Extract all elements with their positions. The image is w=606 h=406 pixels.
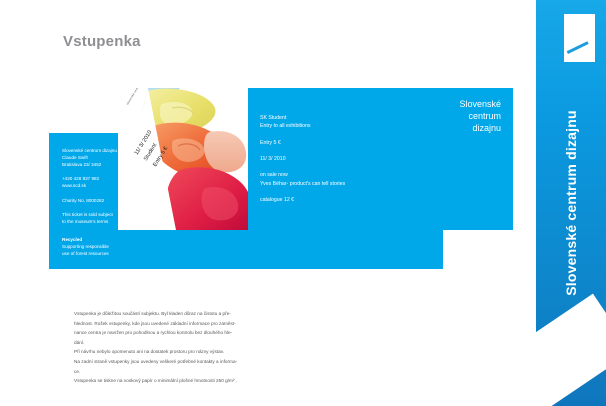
brand-sidebar-label: Slovenské centrum dizajnu — [563, 110, 579, 296]
ticket-front-info-area: Slovenské centrum dizajnu SK Student Ent… — [248, 88, 513, 230]
detail-ticket-type: SK Student Entry to all exhibitions — [260, 114, 410, 131]
recycled-heading: Recycled — [62, 236, 202, 243]
detail-exhibition: on sale now Yves Béhar- product's can te… — [260, 171, 410, 188]
on-sale-label: on sale now — [260, 171, 410, 179]
catalogue-price: catalogue 12 € — [260, 196, 410, 204]
body-line-8: Vstupenka se tiskne na voskový papír o m… — [74, 377, 304, 385]
ticket-front-panel: slovenské centrum dizajnu 11/ 3/ 2010 St… — [118, 88, 513, 230]
body-line-5: Při návrhu nebylo opomenuto ani na dosta… — [74, 348, 304, 356]
body-line-2: hlednost. Rožek vstupenky, kde jsou uved… — [74, 320, 304, 328]
logo-diagonal-stroke — [567, 41, 589, 54]
recycled-line-1: Supporting responsible — [62, 243, 202, 250]
exhibition-title: Yves Béhar- product's can tell stories — [260, 180, 410, 188]
product-photograph — [118, 88, 248, 230]
ticket-date: 11/ 3/ 2010 — [260, 155, 410, 163]
brand-line-1: Slovenské — [391, 98, 501, 110]
brand-sidebar: Slovenské centrum dizajnu — [536, 0, 606, 406]
ticket-type-line: SK Student — [260, 114, 410, 122]
ticket-scope-line: Entry to all exhibitions — [260, 122, 410, 130]
brand-sidebar-diagonal-cut — [536, 294, 606, 406]
description-text: Vstupenka je důležitou součástí subjektu… — [74, 310, 304, 385]
body-line-6: Na zadní straně vstupenky jsou uvedeny v… — [74, 358, 304, 366]
body-line-7: ce. — [74, 368, 304, 376]
body-line-1: Vstupenka je důležitou součástí subjektu… — [74, 310, 304, 318]
detail-catalogue: catalogue 12 € — [260, 196, 410, 204]
recycled-footer: Recycled Supporting responsible use of f… — [62, 236, 202, 257]
ticket-detail-list: SK Student Entry to all exhibitions Entr… — [260, 114, 410, 204]
detail-price: Entry 5 € — [260, 139, 410, 147]
presentation-slide: Vstupenka Slovenské centrum dizajnu Clau… — [0, 0, 606, 406]
ticket-price: Entry 5 € — [260, 139, 410, 147]
body-line-4: dání. — [74, 339, 304, 347]
detail-date: 11/ 3/ 2010 — [260, 155, 410, 163]
recycled-line-2: use of forest resources — [62, 250, 202, 257]
page-title: Vstupenka — [63, 33, 141, 50]
scd-logo-icon — [564, 14, 595, 62]
ticket-front-photo-area: slovenské centrum dizajnu 11/ 3/ 2010 St… — [118, 88, 248, 230]
body-line-3: nance centra je navržen pro pohodlnou a … — [74, 329, 304, 337]
